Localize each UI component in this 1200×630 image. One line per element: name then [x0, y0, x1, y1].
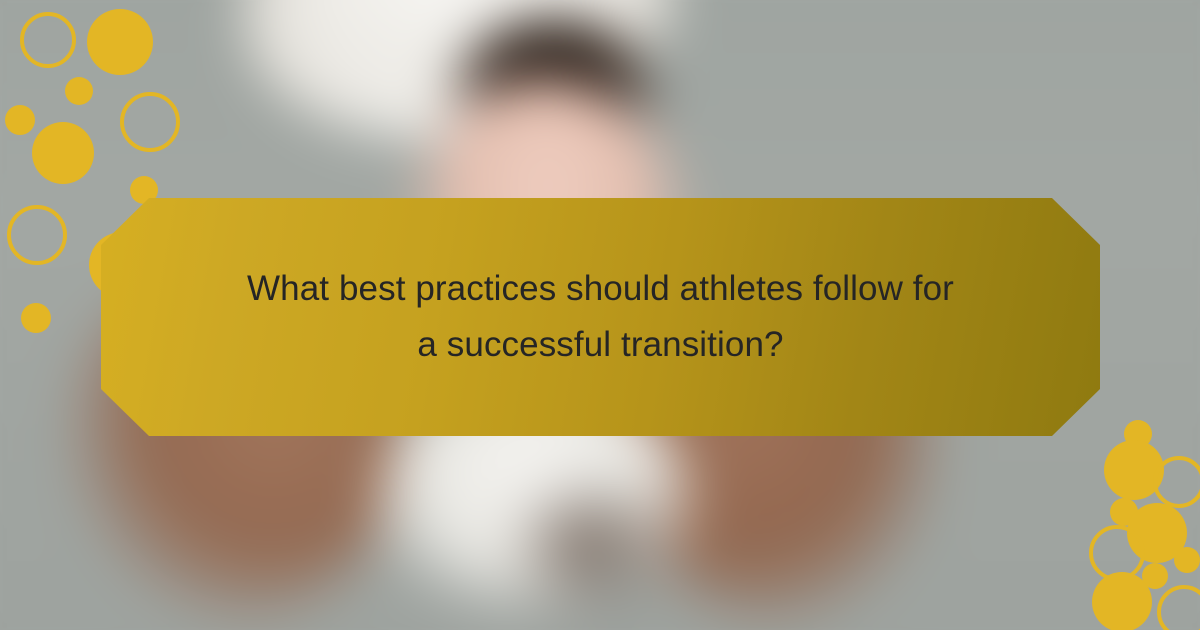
decorative-circle: [1092, 572, 1152, 630]
decorative-circle: [5, 105, 35, 135]
headline-banner: What best practices should athletes foll…: [101, 198, 1100, 436]
decorative-circle: [7, 205, 67, 265]
background-shadow: [500, 470, 680, 620]
decorative-circle: [120, 92, 180, 152]
decorative-circle: [65, 77, 93, 105]
decorative-circle: [1153, 456, 1200, 508]
decorative-circle: [20, 12, 76, 68]
decorative-circle: [32, 122, 94, 184]
decorative-circle: [87, 9, 153, 75]
decorative-circle: [1174, 547, 1200, 573]
poster-canvas: What best practices should athletes foll…: [0, 0, 1200, 630]
decorative-circle: [21, 303, 51, 333]
headline-text: What best practices should athletes foll…: [201, 261, 1001, 373]
